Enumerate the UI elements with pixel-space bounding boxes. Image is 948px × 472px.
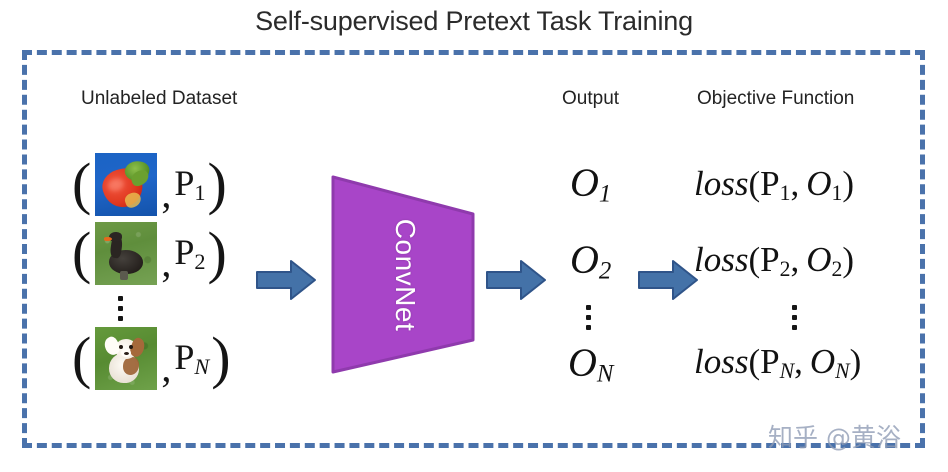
comma-separator: , (161, 241, 171, 285)
paren-close: ) (208, 155, 227, 213)
output-item: O2 (570, 240, 611, 284)
paren-open: ( (72, 329, 91, 387)
comma-separator: , (161, 346, 171, 390)
swan-thumbnail (95, 222, 157, 285)
pretext-label: P2 (174, 231, 205, 275)
arrow-dataset-to-convnet (255, 259, 317, 301)
comma-separator: , (161, 172, 171, 216)
loss-expression: loss(P1, O1) (694, 166, 854, 204)
dataset-row: ( , P1 ) (72, 152, 227, 216)
column-header-dataset: Unlabeled Dataset (81, 88, 237, 110)
page-title: Self-supervised Pretext Task Training (0, 6, 948, 37)
strawberry-thumbnail (95, 153, 157, 216)
dataset-row: ( , PN ) (72, 326, 231, 390)
paren-close: ) (211, 329, 230, 387)
arrow-output-to-objective (637, 259, 699, 301)
diagram-canvas: Self-supervised Pretext Task Training Un… (0, 0, 948, 472)
paren-close: ) (208, 224, 227, 282)
watermark: 知乎 @黄浴 (768, 418, 901, 454)
column-header-objective: Objective Function (697, 88, 854, 110)
dataset-ellipsis-icon (118, 296, 123, 321)
dataset-row: ( , P2 ) (72, 221, 227, 285)
output-item: ON (568, 343, 613, 387)
loss-ellipsis-icon (792, 305, 797, 330)
dog-thumbnail (95, 327, 157, 390)
convnet-block: ConvNet (330, 172, 480, 377)
loss-expression: loss(PN, ON) (694, 344, 861, 382)
output-ellipsis-icon (586, 305, 591, 330)
output-item: O1 (570, 163, 611, 207)
pretext-label: PN (174, 336, 209, 380)
paren-open: ( (72, 155, 91, 213)
paren-open: ( (72, 224, 91, 282)
column-header-output: Output (562, 88, 619, 110)
loss-expression: loss(P2, O2) (694, 242, 854, 280)
pretext-label: P1 (174, 162, 205, 206)
arrow-convnet-to-output (485, 259, 547, 301)
